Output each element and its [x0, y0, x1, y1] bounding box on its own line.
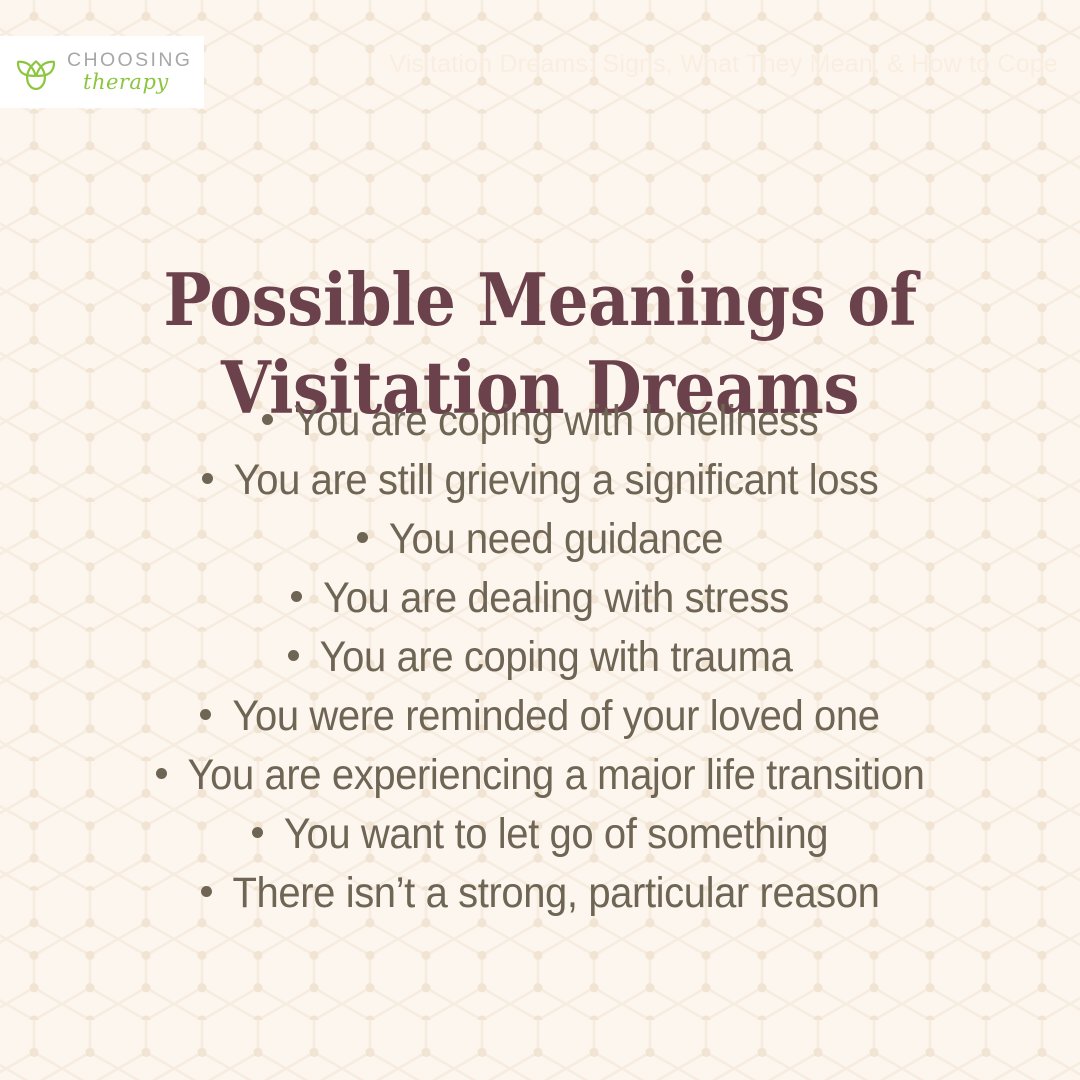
list-item-label: You are coping with trauma	[320, 636, 793, 678]
brand-wordmark: CHOOSING therapy	[67, 51, 192, 94]
dot-bullet-icon	[291, 591, 302, 602]
brand-name-primary: CHOOSING	[67, 51, 192, 71]
article-title: Visitation Dreams: Signs, What They Mean…	[389, 50, 1058, 79]
list-item: You want to let go of something	[0, 814, 1080, 873]
list-item-label: You are experiencing a major life transi…	[188, 754, 925, 796]
page-title-line-1: Possible Meanings of	[59, 256, 1020, 344]
dot-bullet-icon	[357, 532, 368, 543]
list-item-label: You were reminded of your loved one	[232, 695, 879, 737]
brand-name-secondary: therapy	[83, 72, 192, 93]
list-item: You are experiencing a major life transi…	[0, 755, 1080, 814]
list-item: You are coping with loneliness	[0, 401, 1080, 460]
dot-bullet-icon	[288, 650, 299, 661]
list-item-label: There isn’t a strong, particular reason	[233, 872, 880, 914]
list-item: You need guidance	[0, 519, 1080, 578]
list-item-label: You need guidance	[389, 518, 723, 560]
list-item-label: You want to let go of something	[284, 813, 828, 855]
dot-bullet-icon	[201, 886, 212, 897]
list-item: There isn’t a strong, particular reason	[0, 873, 1080, 932]
dot-bullet-icon	[156, 768, 167, 779]
dot-bullet-icon	[202, 473, 213, 484]
lotus-leaf-icon	[14, 50, 58, 94]
list-item: You are coping with trauma	[0, 637, 1080, 696]
list-item: You were reminded of your loved one	[0, 696, 1080, 755]
dot-bullet-icon	[252, 827, 263, 838]
dot-bullet-icon	[262, 414, 273, 425]
list-item-label: You are still grieving a significant los…	[234, 459, 879, 501]
infographic-canvas: Visitation Dreams: Signs, What They Mean…	[0, 0, 1080, 1080]
dot-bullet-icon	[200, 709, 211, 720]
brand-logo[interactable]: CHOOSING therapy	[0, 36, 204, 108]
list-item-label: You are coping with loneliness	[294, 400, 819, 442]
meanings-list: You are coping with loneliness You are s…	[0, 401, 1080, 932]
list-item: You are still grieving a significant los…	[0, 460, 1080, 519]
list-item: You are dealing with stress	[0, 578, 1080, 637]
list-item-label: You are dealing with stress	[323, 577, 789, 619]
